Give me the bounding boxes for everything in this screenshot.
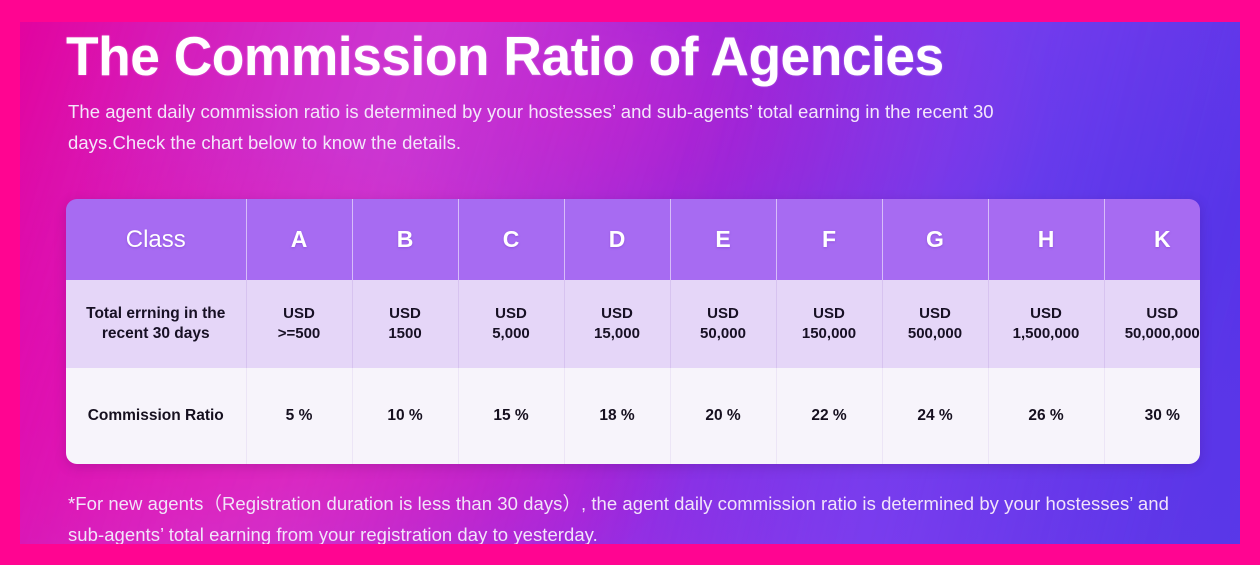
cell-ratio-b: 10 % <box>352 368 458 464</box>
row-label-commission-ratio: Commission Ratio <box>66 368 246 464</box>
amount-value: 5,000 <box>459 324 564 344</box>
column-header-h: H <box>988 199 1104 280</box>
column-header-e: E <box>670 199 776 280</box>
currency-label: USD <box>883 304 988 324</box>
column-header-b: B <box>352 199 458 280</box>
amount-value: 1500 <box>353 324 458 344</box>
page-title: The Commission Ratio of Agencies <box>66 24 944 88</box>
commission-table: Class A B C D E F G H K <box>66 199 1200 464</box>
amount-value: >=500 <box>247 324 352 344</box>
currency-label: USD <box>777 304 882 324</box>
gradient-panel: The Commission Ratio of Agencies The age… <box>20 22 1240 544</box>
amount-value: 15,000 <box>565 324 670 344</box>
cell-ratio-a: 5 % <box>246 368 352 464</box>
page-subtitle: The agent daily commission ratio is dete… <box>68 96 1078 158</box>
row-label-total-earning: Total errning in the recent 30 days <box>66 280 246 368</box>
column-header-k: K <box>1104 199 1200 280</box>
cell-ratio-e: 20 % <box>670 368 776 464</box>
column-header-a: A <box>246 199 352 280</box>
cell-ratio-f: 22 % <box>776 368 882 464</box>
table-header: Class A B C D E F G H K <box>66 199 1200 280</box>
cell-earning-h: USD 1,500,000 <box>988 280 1104 368</box>
amount-value: 50,000,000 <box>1105 324 1201 344</box>
cell-earning-f: USD 150,000 <box>776 280 882 368</box>
cell-earning-c: USD 5,000 <box>458 280 564 368</box>
poster-content: The Commission Ratio of Agencies The age… <box>20 22 1240 544</box>
table-row-commission-ratio: Commission Ratio 5 % 10 % 15 % 18 % 20 %… <box>66 368 1200 464</box>
amount-value: 1,500,000 <box>989 324 1104 344</box>
column-header-d: D <box>564 199 670 280</box>
table-row-total-earning: Total errning in the recent 30 days USD … <box>66 280 1200 368</box>
promo-poster: The Commission Ratio of Agencies The age… <box>0 0 1260 565</box>
currency-label: USD <box>671 304 776 324</box>
cell-earning-e: USD 50,000 <box>670 280 776 368</box>
currency-label: USD <box>1105 304 1201 324</box>
cell-earning-g: USD 500,000 <box>882 280 988 368</box>
column-header-c: C <box>458 199 564 280</box>
cell-ratio-g: 24 % <box>882 368 988 464</box>
currency-label: USD <box>565 304 670 324</box>
amount-value: 50,000 <box>671 324 776 344</box>
cell-earning-b: USD 1500 <box>352 280 458 368</box>
table-header-row: Class A B C D E F G H K <box>66 199 1200 280</box>
commission-table-container: Class A B C D E F G H K <box>66 199 1200 464</box>
currency-label: USD <box>459 304 564 324</box>
column-header-g: G <box>882 199 988 280</box>
table-body: Total errning in the recent 30 days USD … <box>66 280 1200 464</box>
currency-label: USD <box>353 304 458 324</box>
currency-label: USD <box>247 304 352 324</box>
cell-ratio-c: 15 % <box>458 368 564 464</box>
cell-ratio-k: 30 % <box>1104 368 1200 464</box>
footnote-text: *For new agents（Registration duration is… <box>68 488 1208 544</box>
amount-value: 150,000 <box>777 324 882 344</box>
column-header-f: F <box>776 199 882 280</box>
currency-label: USD <box>989 304 1104 324</box>
column-header-class: Class <box>66 199 246 280</box>
cell-earning-d: USD 15,000 <box>564 280 670 368</box>
amount-value: 500,000 <box>883 324 988 344</box>
cell-ratio-h: 26 % <box>988 368 1104 464</box>
cell-earning-a: USD >=500 <box>246 280 352 368</box>
cell-earning-k: USD 50,000,000 <box>1104 280 1200 368</box>
cell-ratio-d: 18 % <box>564 368 670 464</box>
